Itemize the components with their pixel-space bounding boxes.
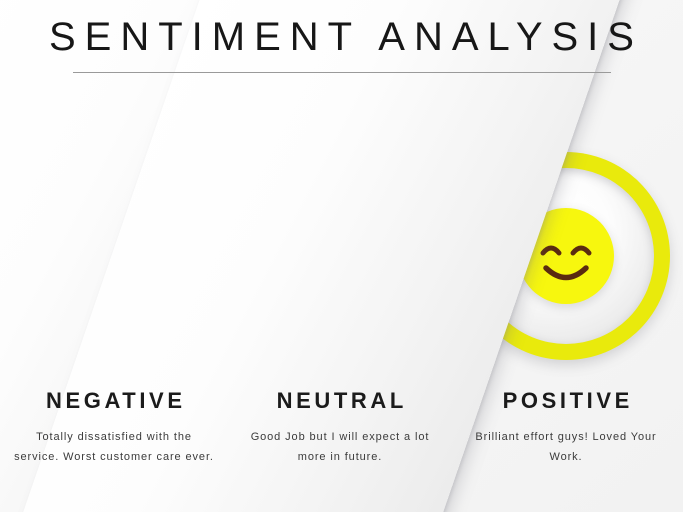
caption-title-negative: NEGATIVE — [0, 388, 228, 414]
smiling-face-icon — [518, 208, 614, 304]
caption-text-negative: Totally dissatisfied with the service. W… — [14, 428, 214, 467]
angry-face-icon — [66, 208, 162, 304]
sentiment-analysis-poster: SENTIMENT ANALYSIS — [0, 0, 683, 512]
caption-title-positive: POSITIVE — [452, 388, 680, 414]
ring-neutral — [236, 152, 444, 360]
neutral-face-icon — [292, 208, 388, 304]
page-title: SENTIMENT ANALYSIS — [0, 0, 683, 62]
ring-negative — [10, 152, 218, 360]
ring-positive — [462, 152, 670, 360]
caption-text-positive: Brilliant effort guys! Loved Your Work. — [466, 428, 666, 467]
caption-negative: NEGATIVE Totally dissatisfied with the s… — [0, 388, 228, 467]
title-divider — [73, 72, 611, 73]
caption-neutral: NEUTRAL Good Job but I will expect a lot… — [226, 388, 454, 467]
caption-title-neutral: NEUTRAL — [226, 388, 454, 414]
caption-positive: POSITIVE Brilliant effort guys! Loved Yo… — [452, 388, 680, 467]
poster-header: SENTIMENT ANALYSIS — [0, 0, 683, 88]
caption-text-neutral: Good Job but I will expect a lot more in… — [240, 428, 440, 467]
